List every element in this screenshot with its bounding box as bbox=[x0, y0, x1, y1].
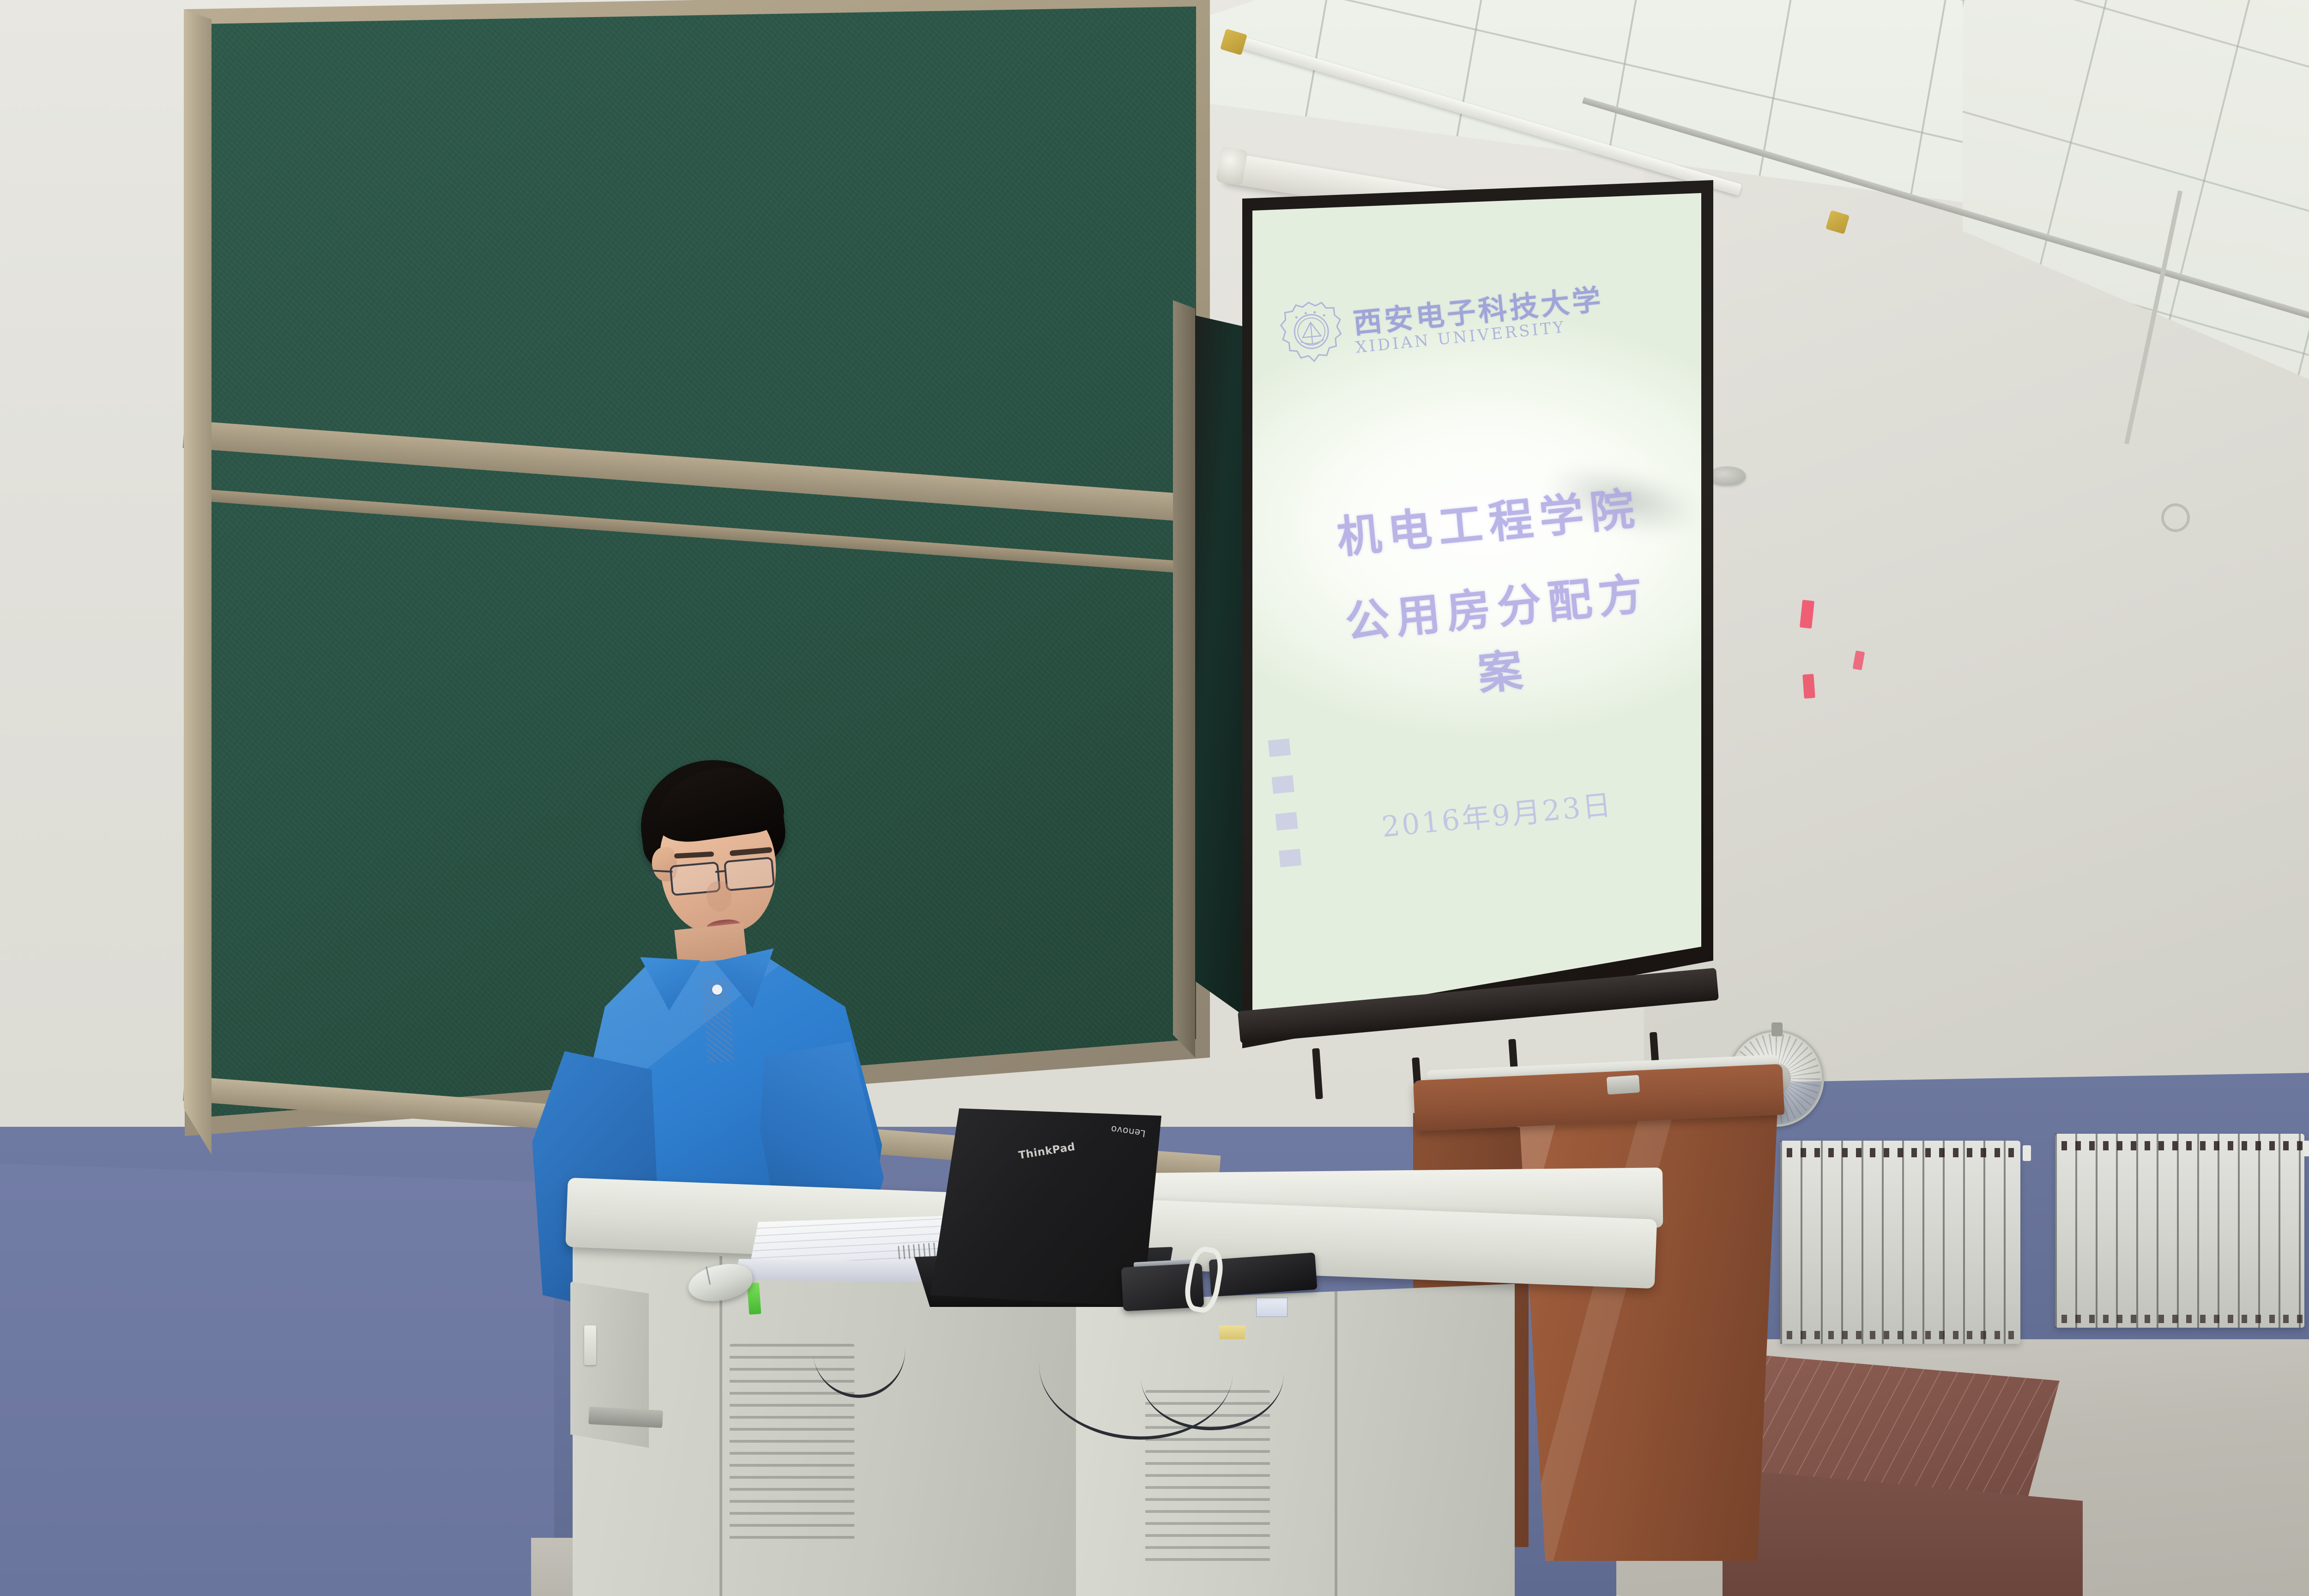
radiator-left bbox=[1780, 1141, 2020, 1344]
radiator-end-cap-right bbox=[2303, 1141, 2309, 1156]
radiator-top-ports bbox=[1780, 1148, 2020, 1157]
slide-title-line-1: 机电工程学院 bbox=[1311, 470, 1666, 568]
radiator-fins bbox=[1780, 1141, 2020, 1344]
spiral-notebook[interactable] bbox=[734, 1259, 928, 1282]
slide-title-line-2: 公用房分配方案 bbox=[1319, 555, 1681, 717]
polo-button bbox=[712, 985, 722, 995]
fan-wall-mount bbox=[1771, 1022, 1783, 1036]
presentation-slide: 西安电子科技大学 XIDIAN UNIVERSITY 机电工程学院 公用房分配方… bbox=[1252, 193, 1701, 1024]
smoke-detector-icon bbox=[1709, 466, 1746, 485]
lectern-small-object bbox=[1607, 1075, 1640, 1095]
slide-date: 2016年9月23日 bbox=[1271, 771, 1701, 856]
radiator-top-ports bbox=[2055, 1141, 2304, 1150]
red-tape-mark-2 bbox=[1802, 674, 1815, 699]
slide-branding: 西安电子科技大学 XIDIAN UNIVERSITY bbox=[1276, 272, 1608, 376]
projection-screen-surface[interactable]: 西安电子科技大学 XIDIAN UNIVERSITY 机电工程学院 公用房分配方… bbox=[1252, 193, 1701, 1024]
chalkboard-left-edge bbox=[184, 9, 212, 1155]
slide-edge-mark bbox=[1268, 738, 1291, 757]
classroom-photo-scene: 西安电子科技大学 XIDIAN UNIVERSITY 机电工程学院 公用房分配方… bbox=[0, 0, 2309, 1596]
slide-title-block: 机电工程学院 公用房分配方案 bbox=[1311, 470, 1681, 717]
eyeglass-bridge bbox=[715, 870, 725, 873]
cabinet-door-seam bbox=[1335, 1288, 1337, 1596]
radiator-bottom-ports bbox=[1780, 1331, 2020, 1339]
black-media-device[interactable] bbox=[1209, 1252, 1317, 1297]
university-crest-icon bbox=[1276, 297, 1348, 376]
slide-edge-marks bbox=[1268, 738, 1302, 867]
chalkboard-right-post bbox=[1173, 300, 1195, 1058]
wainscot-band-left bbox=[0, 1164, 554, 1596]
radiator-bottom-ports bbox=[2055, 1315, 2304, 1323]
keyboard-tray-handle[interactable] bbox=[584, 1325, 596, 1365]
radiator-right bbox=[2055, 1134, 2304, 1328]
radiator-fins bbox=[2055, 1134, 2304, 1328]
university-name-block: 西安电子科技大学 XIDIAN UNIVERSITY bbox=[1352, 285, 1607, 356]
radiator-end-cap-left bbox=[2023, 1145, 2031, 1161]
eyeglass-lens-right bbox=[724, 857, 775, 891]
cabinet-door-seam bbox=[719, 1256, 722, 1596]
slide-edge-mark bbox=[1272, 775, 1294, 794]
cabinet-asset-label bbox=[1256, 1298, 1287, 1317]
slide-edge-mark bbox=[1279, 849, 1301, 867]
slide-edge-mark bbox=[1275, 812, 1298, 830]
conduit-ring bbox=[2161, 503, 2190, 532]
